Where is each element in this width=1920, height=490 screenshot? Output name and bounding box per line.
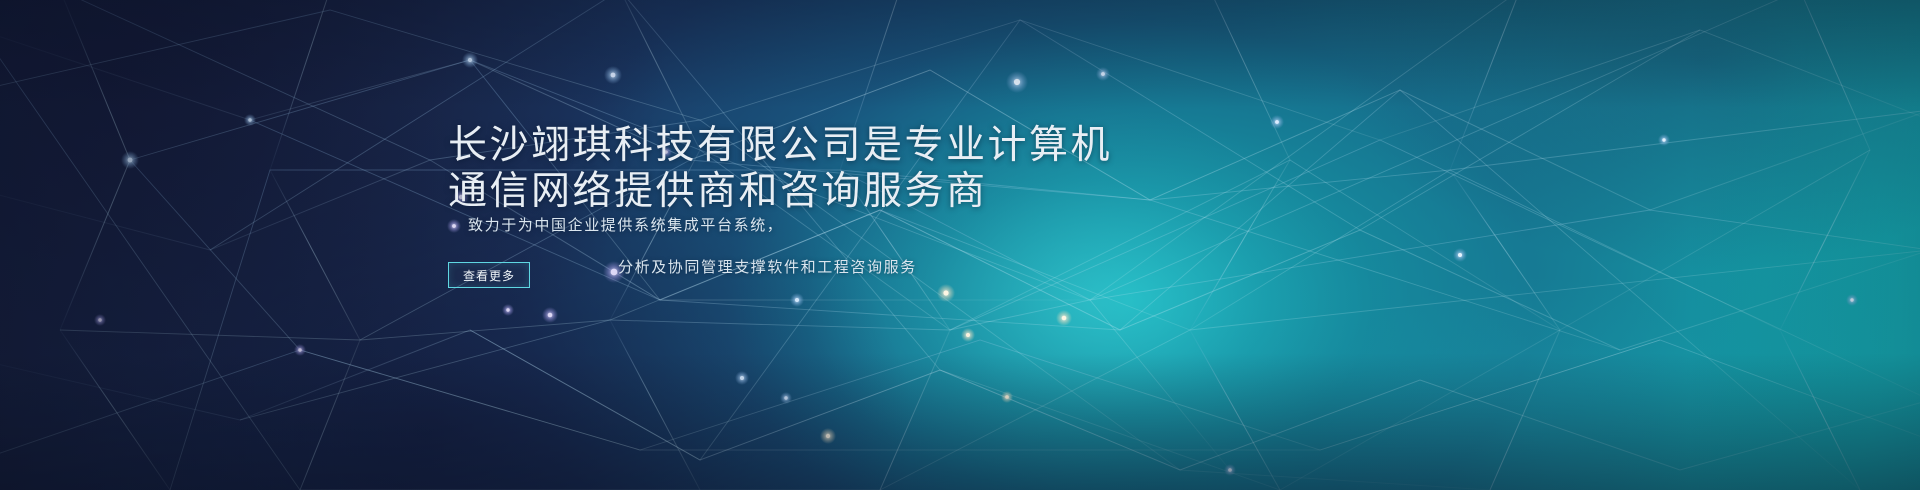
hero-headline: 长沙翊琪科技有限公司是专业计算机 通信网络提供商和咨询服务商 [448,125,1112,213]
view-more-button[interactable]: 查看更多 [448,262,530,288]
hero-headline-line-1: 长沙翊琪科技有限公司是专业计算机 [448,125,1112,167]
hero-subtitle-line-1: 致力于为中国企业提供系统集成平台系统， [468,214,783,235]
hero-banner: 长沙翊琪科技有限公司是专业计算机 通信网络提供商和咨询服务商 致力于为中国企业提… [0,0,1920,490]
hero-subtitle-line-2: 分析及协同管理支撑软件和工程咨询服务 [618,256,917,277]
hero-headline-line-2: 通信网络提供商和咨询服务商 [448,171,1112,213]
hero-content: 长沙翊琪科技有限公司是专业计算机 通信网络提供商和咨询服务商 致力于为中国企业提… [0,0,1920,490]
